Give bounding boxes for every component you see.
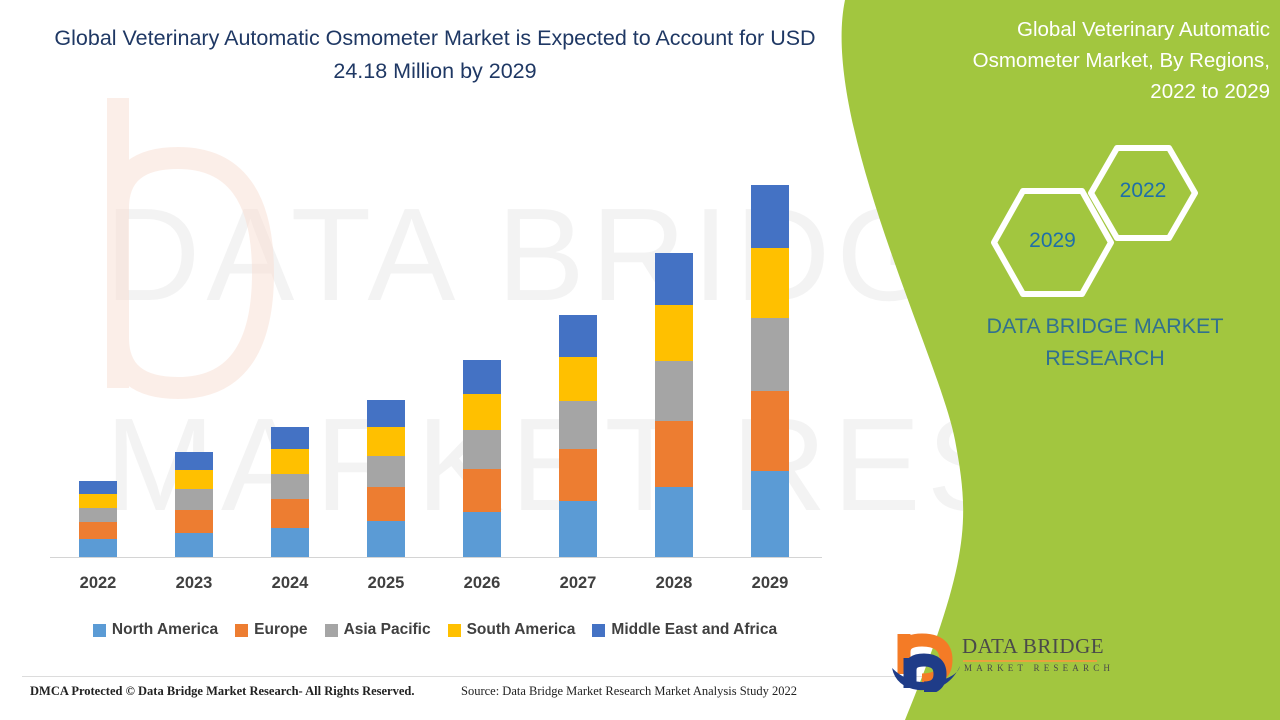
legend-swatch-icon bbox=[93, 624, 106, 637]
legend-label: Asia Pacific bbox=[344, 621, 431, 639]
bar-2023 bbox=[175, 452, 213, 557]
legend-label: South America bbox=[467, 621, 576, 639]
bar-segment-asia-pacific bbox=[559, 401, 597, 448]
bar-segment-middle-east-and-africa bbox=[751, 185, 789, 248]
bar-segment-north-america bbox=[79, 539, 117, 557]
hexagon-2022: 2022 bbox=[1083, 143, 1203, 243]
legend-label: Europe bbox=[254, 621, 307, 639]
bar-segment-south-america bbox=[271, 449, 309, 473]
bar-2025 bbox=[367, 400, 405, 557]
legend-item-middle-east-and-africa[interactable]: Middle East and Africa bbox=[592, 621, 777, 639]
bar-segment-north-america bbox=[559, 501, 597, 557]
bar-segment-europe bbox=[655, 421, 693, 487]
bar-2022 bbox=[79, 481, 117, 557]
legend-swatch-icon bbox=[448, 624, 461, 637]
logo-subtitle: MARKET RESEARCH bbox=[964, 663, 1114, 673]
legend-item-asia-pacific[interactable]: Asia Pacific bbox=[325, 621, 431, 639]
bar-segment-europe bbox=[751, 391, 789, 472]
x-axis-label-2022: 2022 bbox=[50, 574, 146, 593]
bar-segment-south-america bbox=[463, 394, 501, 430]
bar-segment-asia-pacific bbox=[463, 430, 501, 468]
bar-segment-north-america bbox=[751, 471, 789, 557]
bar-2027 bbox=[559, 315, 597, 557]
bar-segment-middle-east-and-africa bbox=[175, 452, 213, 470]
bar-segment-south-america bbox=[751, 248, 789, 317]
legend-label: Middle East and Africa bbox=[611, 621, 777, 639]
data-bridge-logo: DATA BRIDGE MARKET RESEARCH bbox=[890, 630, 1110, 692]
footer-source: Source: Data Bridge Market Research Mark… bbox=[461, 684, 797, 699]
bar-2024 bbox=[271, 427, 309, 557]
bar-segment-europe bbox=[559, 449, 597, 502]
bar-segment-south-america bbox=[655, 305, 693, 361]
x-axis-label-2025: 2025 bbox=[338, 574, 434, 593]
x-axis-label-2029: 2029 bbox=[722, 574, 818, 593]
x-axis-label-2027: 2027 bbox=[530, 574, 626, 593]
logo-divider bbox=[963, 660, 1097, 662]
bar-segment-north-america bbox=[655, 487, 693, 557]
bar-segment-south-america bbox=[367, 427, 405, 456]
logo-mark-icon bbox=[890, 630, 962, 692]
bar-segment-asia-pacific bbox=[271, 474, 309, 500]
bar-segment-europe bbox=[271, 499, 309, 527]
infographic-canvas: DATA BRIDGE MARKET RESEARCH Global Veter… bbox=[0, 0, 1280, 720]
legend-item-south-america[interactable]: South America bbox=[448, 621, 576, 639]
x-axis-label-2023: 2023 bbox=[146, 574, 242, 593]
bar-segment-asia-pacific bbox=[79, 508, 117, 523]
bar-segment-north-america bbox=[367, 521, 405, 557]
legend-swatch-icon bbox=[235, 624, 248, 637]
bar-segment-middle-east-and-africa bbox=[463, 360, 501, 393]
legend-swatch-icon bbox=[325, 624, 338, 637]
brand-name: DATA BRIDGE MARKET RESEARCH bbox=[955, 310, 1255, 374]
bar-2026 bbox=[463, 360, 501, 557]
legend-label: North America bbox=[112, 621, 218, 639]
bar-segment-middle-east-and-africa bbox=[655, 253, 693, 305]
bar-segment-europe bbox=[463, 469, 501, 512]
bar-segment-middle-east-and-africa bbox=[271, 427, 309, 449]
chart-legend: North AmericaEuropeAsia PacificSouth Ame… bbox=[40, 617, 830, 643]
bar-2028 bbox=[655, 253, 693, 557]
footer-copyright: DMCA Protected © Data Bridge Market Rese… bbox=[30, 684, 415, 699]
bar-segment-asia-pacific bbox=[175, 489, 213, 509]
legend-swatch-icon bbox=[592, 624, 605, 637]
bar-segment-asia-pacific bbox=[367, 456, 405, 487]
legend-item-north-america[interactable]: North America bbox=[93, 621, 218, 639]
logo-title: DATA BRIDGE bbox=[962, 634, 1104, 659]
bar-segment-north-america bbox=[271, 528, 309, 557]
bar-segment-south-america bbox=[559, 357, 597, 402]
bar-segment-middle-east-and-africa bbox=[367, 400, 405, 427]
hexagon-2022-label: 2022 bbox=[1083, 179, 1203, 203]
right-panel-title: Global Veterinary Automatic Osmometer Ma… bbox=[940, 14, 1270, 107]
bar-segment-asia-pacific bbox=[655, 361, 693, 421]
legend-item-europe[interactable]: Europe bbox=[235, 621, 307, 639]
bar-segment-south-america bbox=[175, 470, 213, 489]
bar-segment-europe bbox=[367, 487, 405, 521]
bar-segment-asia-pacific bbox=[751, 318, 789, 391]
x-axis-label-2024: 2024 bbox=[242, 574, 338, 593]
bar-segment-south-america bbox=[79, 494, 117, 508]
bar-segment-north-america bbox=[175, 533, 213, 557]
bar-2029 bbox=[751, 185, 789, 557]
x-axis-label-2028: 2028 bbox=[626, 574, 722, 593]
bar-segment-north-america bbox=[463, 512, 501, 557]
bar-segment-europe bbox=[79, 522, 117, 539]
bar-segment-middle-east-and-africa bbox=[559, 315, 597, 357]
bar-segment-europe bbox=[175, 510, 213, 533]
x-axis-label-2026: 2026 bbox=[434, 574, 530, 593]
bar-segment-middle-east-and-africa bbox=[79, 481, 117, 494]
